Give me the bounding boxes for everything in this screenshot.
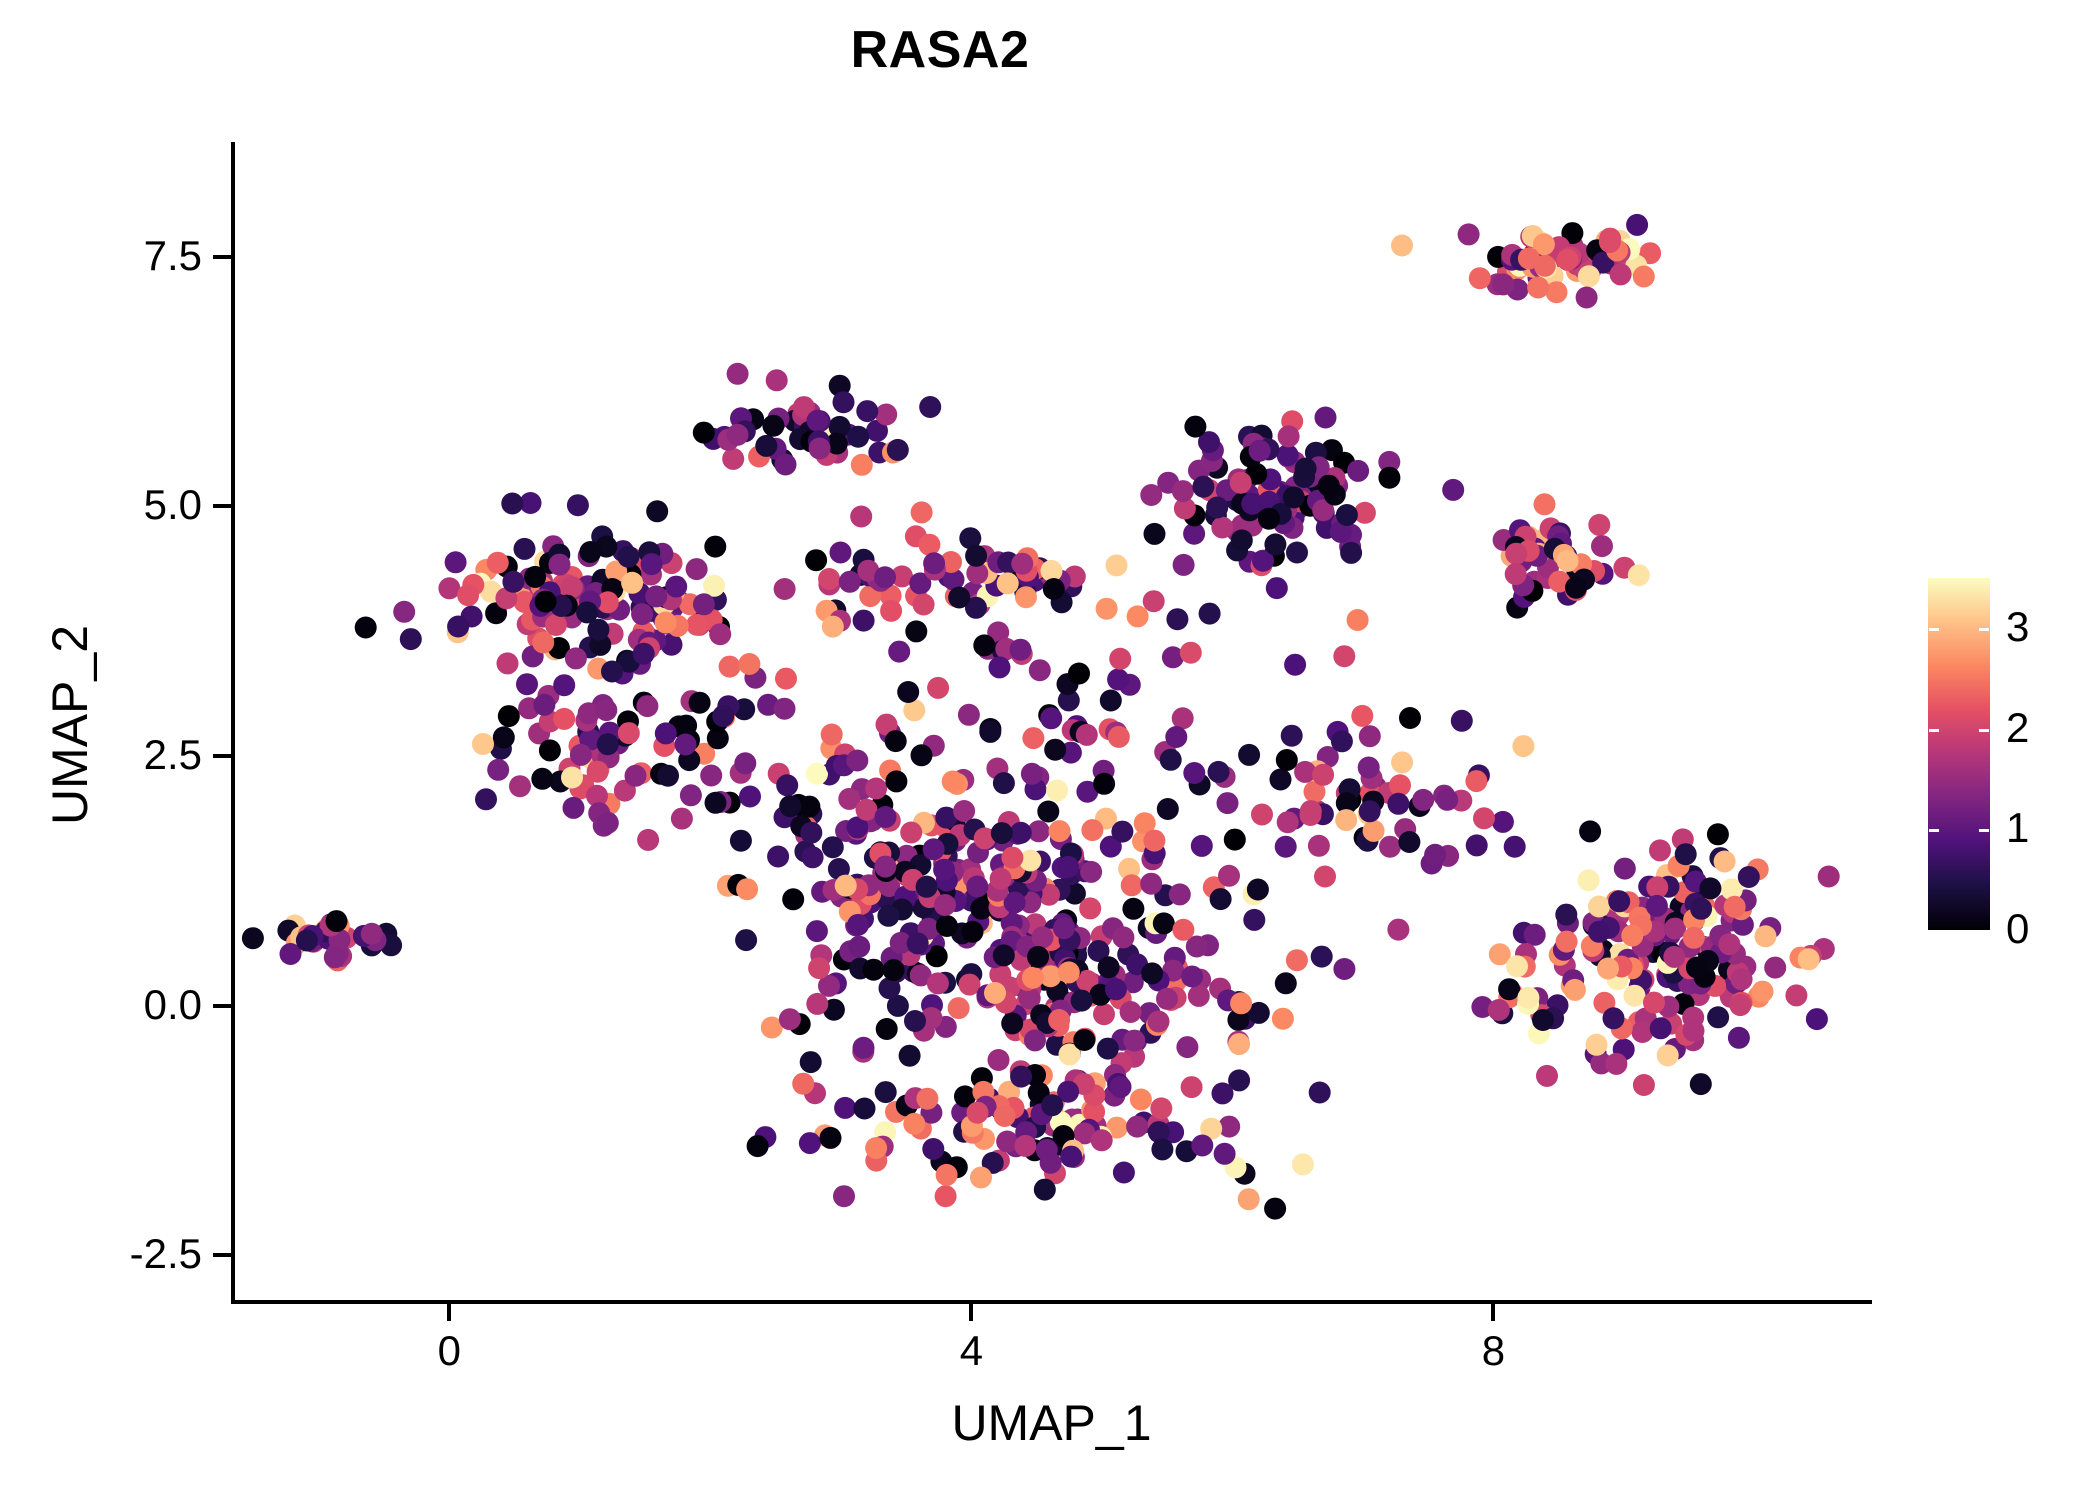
scatter-point [618, 722, 640, 744]
scatter-point [1173, 554, 1195, 576]
scatter-point [1614, 858, 1636, 880]
feature-plot-root: RASA2 -2.50.02.55.07.5 048 UMAP_1 UMAP_2… [0, 0, 2100, 1500]
scatter-point [970, 1167, 992, 1189]
scatter-point [1251, 804, 1273, 826]
scatter-point [1140, 484, 1162, 506]
scatter-point [846, 750, 868, 772]
scatter-point [1073, 1029, 1095, 1051]
scatter-point [885, 730, 907, 752]
scatter-point [1683, 927, 1705, 949]
scatter-point [1340, 542, 1362, 564]
scatter-point [1557, 249, 1579, 271]
scatter-point [1230, 992, 1252, 1014]
scatter-point [1351, 705, 1373, 727]
scatter-point [703, 575, 725, 597]
scatter-point [1333, 645, 1355, 667]
scatter-point [1387, 793, 1409, 815]
scatter-point [1284, 654, 1306, 676]
scatter-point [851, 454, 873, 476]
scatter-point [1247, 879, 1269, 901]
scatter-point [948, 997, 970, 1019]
scatter-point [1347, 460, 1369, 482]
x-tick-label: 4 [911, 1330, 1031, 1372]
scatter-point [393, 601, 415, 623]
scatter-point [657, 765, 679, 787]
scatter-point [524, 566, 546, 588]
scatter-point [1130, 1089, 1152, 1111]
scatter-point [719, 656, 741, 678]
scatter-points-layer [234, 142, 1872, 1300]
scatter-point [800, 1051, 822, 1073]
scatter-point [997, 572, 1019, 594]
scatter-point [1631, 1021, 1653, 1043]
scatter-point [1512, 735, 1534, 757]
scatter-point [907, 932, 929, 954]
scatter-point [806, 993, 828, 1015]
scatter-point [1363, 820, 1385, 842]
scatter-point [799, 1132, 821, 1154]
scatter-point [1275, 836, 1297, 858]
y-tick-mark [213, 1253, 232, 1257]
colorbar-tick-mark [1929, 628, 1939, 631]
scatter-point [1107, 669, 1129, 691]
scatter-point [1091, 1129, 1113, 1151]
scatter-point [1037, 801, 1059, 823]
scatter-point [1097, 1038, 1119, 1060]
scatter-point [1110, 1076, 1132, 1098]
scatter-point [911, 744, 933, 766]
scatter-point [1010, 822, 1032, 844]
x-tick-mark [969, 1302, 973, 1321]
scatter-point [1755, 925, 1777, 947]
plot-panel [234, 142, 1872, 1300]
scatter-point [675, 715, 697, 737]
scatter-point [880, 600, 902, 622]
scatter-point [693, 422, 715, 444]
scatter-point [1206, 497, 1228, 519]
scatter-point [1046, 780, 1068, 802]
scatter-point [792, 1073, 814, 1095]
scatter-point [887, 439, 909, 461]
scatter-point [565, 647, 587, 669]
scatter-point [1121, 874, 1143, 896]
scatter-point [913, 594, 935, 616]
scatter-point [1140, 873, 1162, 895]
scatter-point [1683, 1020, 1705, 1042]
scatter-point [1283, 486, 1305, 508]
scatter-point [1010, 639, 1032, 661]
scatter-point [1157, 798, 1179, 820]
scatter-point [1238, 744, 1260, 766]
scatter-point [1058, 961, 1080, 983]
scatter-point [1093, 773, 1115, 795]
scatter-point [1184, 416, 1206, 438]
scatter-point [1034, 1179, 1056, 1201]
scatter-point [1398, 831, 1420, 853]
scatter-point [576, 601, 598, 623]
scatter-point [1166, 608, 1188, 630]
scatter-point [1505, 563, 1527, 585]
scatter-point [918, 534, 940, 556]
scatter-point [1123, 1030, 1145, 1052]
scatter-point [1498, 978, 1520, 1000]
scatter-point [487, 552, 509, 574]
scatter-point [1144, 523, 1166, 545]
scatter-point [1588, 921, 1610, 943]
x-tick-mark [447, 1302, 451, 1321]
scatter-point [563, 797, 585, 819]
scatter-point [1798, 948, 1820, 970]
scatter-point [1044, 739, 1066, 761]
scatter-point [1001, 847, 1023, 869]
x-axis-title: UMAP_1 [231, 1398, 1872, 1448]
scatter-point [631, 603, 653, 625]
scatter-point [705, 792, 727, 814]
scatter-point [1707, 823, 1729, 845]
scatter-point [1181, 1076, 1203, 1098]
scatter-point [934, 894, 956, 916]
scatter-point [1258, 508, 1280, 530]
scatter-point [1277, 444, 1299, 466]
scatter-point [877, 905, 899, 927]
x-tick-label: 8 [1433, 1330, 1553, 1372]
scatter-point [1218, 865, 1240, 887]
scatter-point [1277, 811, 1299, 833]
scatter-point [1335, 809, 1357, 831]
scatter-point [834, 1097, 856, 1119]
scatter-point [689, 692, 711, 714]
scatter-point [911, 501, 933, 523]
scatter-point [1624, 985, 1646, 1007]
scatter-point [953, 800, 975, 822]
scatter-point [1183, 762, 1205, 784]
scatter-point [516, 673, 538, 695]
scatter-point [1224, 829, 1246, 851]
scatter-point [919, 396, 941, 418]
scatter-point [1120, 1001, 1142, 1023]
colorbar-tick-mark [1929, 829, 1939, 832]
scatter-point [1156, 988, 1178, 1010]
scatter-point [1718, 933, 1740, 955]
scatter-point [1275, 972, 1297, 994]
scatter-point [1264, 533, 1286, 555]
scatter-point [533, 694, 555, 716]
scatter-point [1172, 919, 1194, 941]
scatter-point [1724, 896, 1746, 918]
scatter-point [597, 812, 619, 834]
scatter-point [865, 778, 887, 800]
scatter-point [1295, 458, 1317, 480]
scatter-point [1506, 955, 1528, 977]
scatter-point [1707, 1006, 1729, 1028]
scatter-point [561, 576, 583, 598]
scatter-point [1331, 730, 1353, 752]
scatter-point [636, 695, 658, 717]
scatter-point [1112, 926, 1134, 948]
scatter-point [1172, 480, 1194, 502]
scatter-point [487, 759, 509, 781]
scatter-point [1105, 978, 1127, 1000]
scatter-point [1314, 866, 1336, 888]
scatter-point [820, 1127, 842, 1149]
scatter-point [561, 767, 583, 789]
scatter-point [1518, 247, 1540, 269]
scatter-point [1143, 830, 1165, 852]
scatter-point [1599, 231, 1621, 253]
scatter-point [655, 722, 677, 744]
scatter-point [830, 542, 852, 564]
scatter-point [553, 674, 575, 696]
scatter-point [774, 578, 796, 600]
scatter-point [1473, 807, 1495, 829]
scatter-point [767, 846, 789, 868]
scatter-point [739, 786, 761, 808]
y-tick-mark [213, 504, 232, 508]
x-axis-line [231, 1300, 1872, 1304]
scatter-point [923, 552, 945, 574]
scatter-point [549, 554, 571, 576]
scatter-point [875, 1081, 897, 1103]
scatter-point [809, 438, 831, 460]
scatter-point [936, 1164, 958, 1186]
scatter-point [1049, 820, 1071, 842]
scatter-point [966, 876, 988, 898]
scatter-point [1230, 472, 1252, 494]
scatter-point [903, 1113, 925, 1135]
colorbar-tick-mark [1979, 628, 1989, 631]
scatter-point [475, 788, 497, 810]
scatter-point [1738, 866, 1760, 888]
scatter-point [704, 536, 726, 558]
scatter-point [927, 972, 949, 994]
scatter-point [905, 620, 927, 642]
scatter-point [1333, 958, 1355, 980]
scatter-point [775, 454, 797, 476]
scatter-point [457, 584, 479, 606]
scatter-point [933, 859, 955, 881]
scatter-point [1336, 504, 1358, 526]
scatter-point [438, 577, 460, 599]
scatter-point [1729, 994, 1751, 1016]
scatter-point [1633, 266, 1655, 288]
scatter-point [1153, 912, 1175, 934]
scatter-point [897, 681, 919, 703]
scatter-point [1488, 999, 1510, 1021]
scatter-point [935, 1185, 957, 1207]
scatter-point [1292, 1153, 1314, 1175]
scatter-point [1212, 1082, 1234, 1104]
colorbar-tick-mark [1929, 729, 1939, 732]
scatter-point [839, 571, 861, 593]
scatter-point [1126, 1116, 1148, 1138]
scatter-point [747, 1135, 769, 1157]
scatter-point [1024, 1029, 1046, 1051]
scatter-point [693, 593, 715, 615]
scatter-point [1633, 1074, 1655, 1096]
scatter-point [665, 576, 687, 598]
scatter-point [1436, 789, 1458, 811]
scatter-point [923, 838, 945, 860]
scatter-point [296, 930, 318, 952]
scatter-point [1312, 764, 1334, 786]
scatter-point [958, 704, 980, 726]
scatter-point [1378, 467, 1400, 489]
scatter-point [1399, 707, 1421, 729]
scatter-point [990, 868, 1012, 890]
scatter-point [502, 571, 524, 593]
scatter-point [993, 772, 1015, 794]
scatter-point [822, 616, 844, 638]
scatter-point [847, 426, 869, 448]
scatter-point [1076, 724, 1098, 746]
scatter-point [709, 623, 731, 645]
scatter-point [736, 878, 758, 900]
scatter-point [1015, 586, 1037, 608]
scatter-point [712, 705, 734, 727]
scatter-point [1412, 789, 1434, 811]
scatter-point [1040, 707, 1062, 729]
scatter-point [1675, 843, 1697, 865]
scatter-point [601, 661, 623, 683]
scatter-point [531, 768, 553, 790]
scatter-point [1524, 924, 1546, 946]
scatter-point [850, 506, 872, 528]
scatter-point [776, 774, 798, 796]
scatter-point [1238, 1188, 1260, 1210]
scatter-point [808, 957, 830, 979]
colorbar-tick-label: 0 [2006, 908, 2029, 950]
scatter-point [1465, 770, 1487, 792]
scatter-point [671, 808, 693, 830]
scatter-point [645, 585, 667, 607]
scatter-point [1650, 1017, 1672, 1039]
scatter-point [722, 448, 744, 470]
scatter-point [818, 568, 840, 590]
scatter-point [1610, 263, 1632, 285]
scatter-point [1359, 800, 1381, 822]
scatter-point [1534, 493, 1556, 515]
scatter-point [1300, 800, 1322, 822]
y-axis-line [231, 142, 235, 1304]
scatter-point [472, 733, 494, 755]
x-tick-label: 0 [389, 1330, 509, 1372]
scatter-point [686, 558, 708, 580]
scatter-point [579, 541, 601, 563]
scatter-point [1286, 542, 1308, 564]
scatter-point [899, 1045, 921, 1067]
scatter-point [1011, 553, 1033, 575]
scatter-point [1308, 835, 1330, 857]
scatter-point [1127, 605, 1149, 627]
y-tick-label: -2.5 [130, 1233, 202, 1275]
scatter-point [1657, 1044, 1679, 1066]
scatter-point [822, 836, 844, 858]
scatter-point [539, 739, 561, 761]
scatter-point [1504, 836, 1526, 858]
scatter-point [856, 799, 878, 821]
scatter-point [848, 936, 870, 958]
scatter-point [779, 795, 801, 817]
scatter-point [965, 545, 987, 567]
scatter-point [1093, 1003, 1115, 1025]
scatter-point [1557, 550, 1579, 572]
scatter-point [1686, 957, 1708, 979]
scatter-point [497, 652, 519, 674]
scatter-point [775, 668, 797, 690]
colorbar-tick-label: 2 [2006, 707, 2029, 749]
scatter-point [1122, 898, 1144, 920]
scatter-point [1106, 554, 1128, 576]
y-tick-mark [213, 1004, 232, 1008]
scatter-point [1266, 577, 1288, 599]
scatter-point [1387, 919, 1409, 941]
scatter-point [942, 771, 964, 793]
y-tick-label: 7.5 [144, 235, 202, 277]
scatter-point [874, 566, 896, 588]
scatter-point [1391, 751, 1413, 773]
scatter-point [735, 929, 757, 951]
scatter-point [700, 765, 722, 787]
scatter-point [1176, 1036, 1198, 1058]
scatter-point [675, 734, 697, 756]
scatter-point [1270, 769, 1292, 791]
scatter-point [1818, 866, 1840, 888]
scatter-point [1785, 984, 1807, 1006]
scatter-point [514, 538, 536, 560]
scatter-point [646, 500, 668, 522]
scatter-point [625, 765, 647, 787]
scatter-point [1096, 598, 1118, 620]
scatter-point [1060, 1146, 1082, 1168]
scatter-point [1505, 543, 1527, 565]
scatter-point [962, 921, 984, 943]
scatter-point [1546, 281, 1568, 303]
scatter-point [1071, 990, 1093, 1012]
scatter-point [1576, 287, 1598, 309]
scatter-point [916, 1088, 938, 1110]
scatter-point [1358, 757, 1380, 779]
scatter-point [637, 829, 659, 851]
scatter-point [361, 923, 383, 945]
scatter-point [1588, 896, 1610, 918]
scatter-point [807, 410, 829, 432]
scatter-point [833, 1185, 855, 1207]
scatter-point [686, 614, 708, 636]
scatter-point [727, 363, 749, 385]
scatter-point [1172, 707, 1194, 729]
x-tick-mark [1491, 1302, 1495, 1321]
scatter-point [1532, 1009, 1554, 1031]
scatter-point [854, 1098, 876, 1120]
scatter-point [727, 424, 749, 446]
scatter-point [1214, 1143, 1236, 1165]
scatter-point [991, 822, 1013, 844]
scatter-point [738, 653, 760, 675]
scatter-point [835, 875, 857, 897]
scatter-point [1191, 835, 1213, 857]
scatter-point [1690, 1073, 1712, 1095]
scatter-point [766, 369, 788, 391]
scatter-point [535, 591, 557, 613]
scatter-point [1264, 1198, 1286, 1220]
scatter-point [1492, 273, 1514, 295]
scatter-point [1391, 235, 1413, 257]
scatter-point [1714, 851, 1736, 873]
scatter-point [1379, 836, 1401, 858]
scatter-point [1527, 277, 1549, 299]
scatter-point [821, 724, 843, 746]
scatter-point [800, 822, 822, 844]
